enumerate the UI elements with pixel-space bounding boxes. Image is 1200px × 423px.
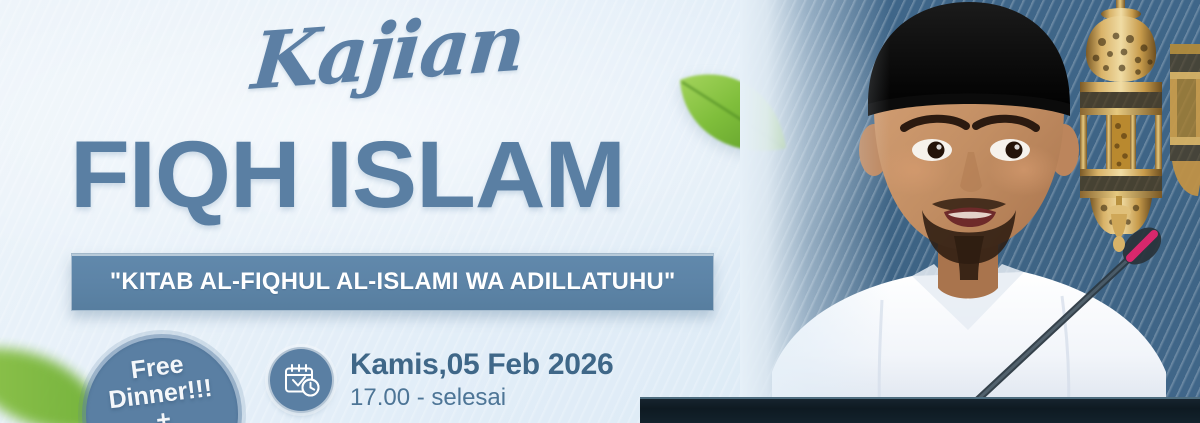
subtitle-text: "KITAB AL-FIQHUL AL-ISLAMI WA ADILLATUHU… [110, 268, 676, 296]
podium [640, 397, 1200, 423]
event-datetime: Kamis,05 Feb 2026 17.00 - selesai [268, 347, 613, 413]
calendar-clock-icon [268, 347, 334, 413]
script-title: Kajian [249, 4, 527, 102]
lantern-finial-icon [1104, 196, 1134, 254]
speaker-photo-panel [740, 0, 1200, 423]
lantern-icon [1170, 28, 1200, 218]
event-date: Kamis,05 Feb 2026 [350, 349, 613, 381]
datetime-text-block: Kamis,05 Feb 2026 17.00 - selesai [350, 347, 613, 413]
event-poster: Kajian FIQH ISLAM "KITAB AL-FIQHUL AL-IS… [0, 0, 1200, 423]
event-time: 17.00 - selesai [350, 383, 613, 413]
subtitle-banner: "KITAB AL-FIQHUL AL-ISLAMI WA ADILLATUHU… [71, 253, 714, 311]
page-title: FIQH ISLAM [70, 128, 625, 223]
photo-edge-feather [740, 0, 890, 423]
